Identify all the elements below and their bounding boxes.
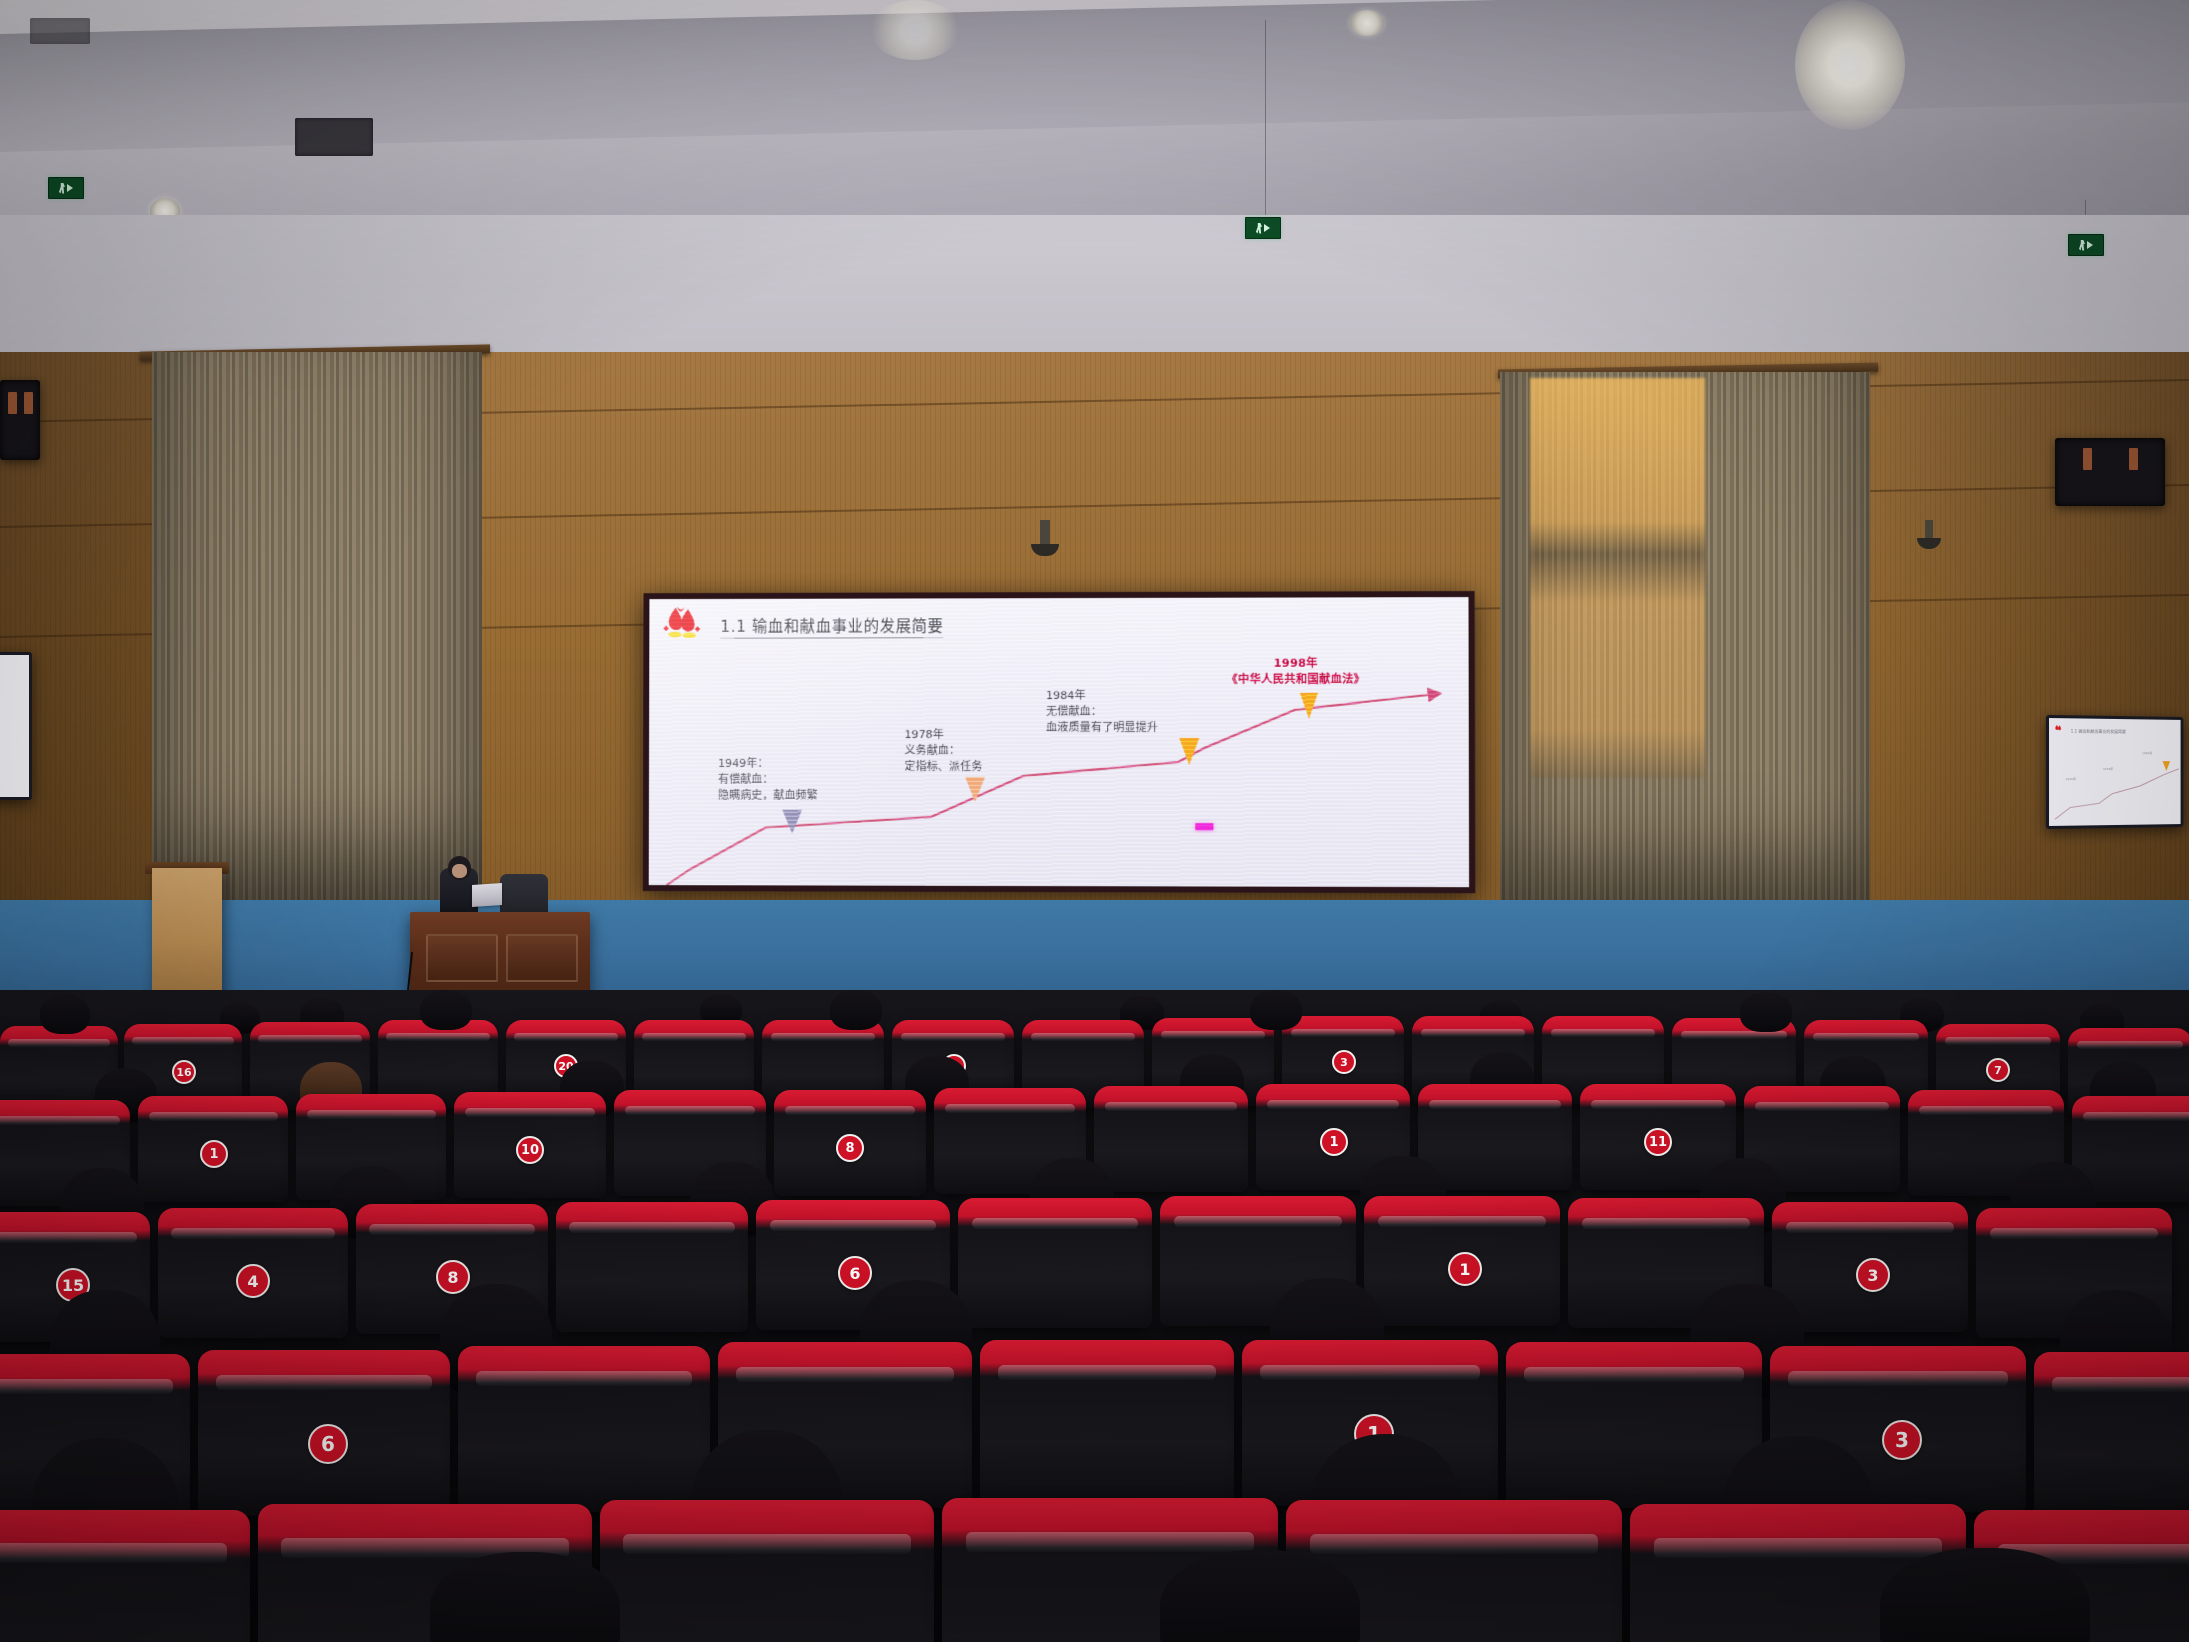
- peach-triangle-marker: [965, 777, 985, 802]
- ceiling-camera: [1040, 520, 1050, 546]
- milestone-year: 1949年：: [718, 756, 818, 772]
- audience-head: [430, 1552, 620, 1642]
- right-side-monitor[interactable]: 1.1 输血和献血事业的发展简要 1949年 1978年 1984年: [2046, 715, 2183, 829]
- milestone-line: 义务献血：: [904, 743, 982, 759]
- theater-seat[interactable]: [1094, 1086, 1248, 1192]
- audience-head: [1160, 1550, 1360, 1642]
- seat-number-badge: 3: [1882, 1420, 1922, 1460]
- desk-panel: [426, 934, 498, 982]
- ceiling-spotlight: [1795, 0, 1905, 130]
- slide-surface: 1.1 输血和献血事业的发展简要 1949年： 有偿献血： 隐瞒病史，献血频繁: [649, 597, 1469, 887]
- theater-seat[interactable]: 4: [158, 1208, 348, 1338]
- orange-triangle-marker: [1300, 693, 1318, 719]
- theater-seat[interactable]: 1: [138, 1096, 288, 1202]
- emergency-exit-sign: [1245, 217, 1281, 239]
- speaker-driver-icon: [8, 392, 17, 414]
- seat-number-badge: 4: [236, 1264, 270, 1298]
- speaker-driver-icon: [24, 392, 33, 414]
- slide-title: 1.1 输血和献血事业的发展简要: [720, 614, 943, 638]
- magenta-highlight-chip: [1195, 823, 1213, 830]
- main-led-screen[interactable]: 1.1 输血和献血事业的发展简要 1949年： 有偿献血： 隐瞒病史，献血频繁: [643, 591, 1475, 893]
- right-monitor-screen: 1.1 输血和献血事业的发展简要 1949年 1978年 1984年: [2049, 718, 2181, 826]
- milestone-label-1984: 1984年 无偿献血： 血液质量有了明显提升: [1046, 688, 1158, 736]
- monitor-mini-label: 1978年: [2103, 767, 2113, 771]
- theater-seat[interactable]: [1418, 1084, 1572, 1190]
- seat-number-badge: 1: [200, 1140, 228, 1168]
- running-man-icon: [59, 183, 65, 194]
- theater-seat[interactable]: [600, 1500, 934, 1642]
- audience-head: [1250, 990, 1302, 1030]
- monitor-mini-label: 1984年: [2142, 751, 2152, 755]
- wooden-podium: [152, 868, 222, 998]
- presenter-laptop: [472, 883, 502, 907]
- theater-seat[interactable]: [2034, 1352, 2189, 1518]
- audience-seating-area: 16 20 1 3 7: [0, 990, 2189, 1642]
- milestone-line: 血液质量有了明显提升: [1046, 720, 1158, 736]
- theater-seat[interactable]: 1: [1364, 1196, 1560, 1326]
- milestone-label-1978: 1978年 义务献血： 定指标、派任务: [904, 727, 982, 775]
- speaker-driver-icon: [2083, 448, 2092, 470]
- seat-number-badge: 3: [1332, 1050, 1356, 1074]
- audience-head: [830, 990, 882, 1030]
- desk-panel: [506, 934, 578, 982]
- audience-head: [420, 990, 472, 1030]
- seat-number-badge: 6: [838, 1256, 872, 1290]
- presenter-desk: [410, 912, 590, 998]
- exit-arrow-icon: [2087, 241, 2093, 249]
- audience-head: [1880, 1548, 2090, 1642]
- seat-number-badge: 7: [1986, 1058, 2010, 1082]
- curtain-warm-light-wash: [1530, 378, 1705, 778]
- theater-seat[interactable]: 10: [454, 1092, 606, 1198]
- emergency-exit-sign: [2068, 234, 2104, 256]
- wall-speaker: [2055, 438, 2165, 506]
- theater-seat[interactable]: [1506, 1342, 1762, 1508]
- milestone-line: 隐瞒病史，献血频繁: [718, 788, 818, 804]
- theater-seat[interactable]: [0, 1510, 250, 1642]
- milestone-year: 1978年: [904, 727, 982, 743]
- audience-head: [1740, 992, 1792, 1032]
- theater-seat[interactable]: 3: [1772, 1202, 1968, 1332]
- auditorium-photo: 1.1 输血和献血事业的发展简要 1949年： 有偿献血： 隐瞒病史，献血频繁: [0, 0, 2189, 1642]
- milestone-line: 《中华人民共和国献血法》: [1226, 672, 1365, 688]
- exit-arrow-icon: [1264, 224, 1270, 232]
- running-man-icon: [1256, 223, 1262, 234]
- left-monitor-screen: 1998年: [0, 655, 29, 797]
- seat-number-badge: 1: [1320, 1128, 1348, 1156]
- milestone-label-1998: 1998年 《中华人民共和国献血法》: [1226, 656, 1365, 688]
- milestone-line: 有偿献血：: [718, 772, 818, 788]
- timeline-line-chart: [649, 597, 1469, 887]
- milestone-line: 无偿献血：: [1046, 704, 1158, 720]
- milestone-line: 定指标、派任务: [904, 759, 982, 775]
- milestone-year: 1984年: [1046, 688, 1158, 704]
- exit-arrow-icon: [67, 184, 73, 192]
- seat-number-badge: 11: [1644, 1128, 1672, 1156]
- speaker-driver-icon: [2129, 448, 2138, 470]
- seat-number-badge: 16: [172, 1060, 196, 1084]
- theater-seat[interactable]: [958, 1198, 1152, 1328]
- monitor-mini-label: 1949年: [2065, 777, 2076, 781]
- presenter-face: [452, 864, 467, 878]
- ceiling-vent: [295, 118, 373, 156]
- seat-number-badge: 1: [1448, 1252, 1482, 1286]
- ceiling-vent: [30, 18, 90, 44]
- left-side-monitor[interactable]: 1998年: [0, 652, 32, 800]
- monitor-timeline-line: [2049, 718, 2181, 826]
- theater-seat[interactable]: [980, 1340, 1234, 1506]
- wall-speaker: [0, 380, 40, 460]
- seat-number-badge: 10: [516, 1136, 544, 1164]
- theater-seat[interactable]: 6: [198, 1350, 450, 1516]
- seat-number-badge: 8: [436, 1260, 470, 1294]
- theater-seat[interactable]: 8: [774, 1090, 926, 1196]
- milestone-year: 1998年: [1226, 656, 1365, 672]
- seat-number-badge: 6: [308, 1424, 348, 1464]
- ceiling-spotlight: [870, 0, 960, 60]
- theater-seat[interactable]: [458, 1346, 710, 1512]
- milestone-label-1949: 1949年： 有偿献血： 隐瞒病史，献血频繁: [718, 756, 818, 804]
- stage-curtain-left: [152, 352, 482, 922]
- gray-violet-triangle-marker: [782, 810, 802, 834]
- seat-number-badge: 8: [836, 1134, 864, 1162]
- audience-head: [40, 994, 90, 1034]
- theater-seat[interactable]: [556, 1202, 748, 1332]
- running-man-icon: [2079, 240, 2085, 251]
- ceiling-downlight: [1350, 10, 1384, 36]
- seat-number-badge: 3: [1856, 1258, 1890, 1292]
- emergency-exit-sign: [48, 177, 84, 199]
- red-blood-drop-mascot-logo: [663, 605, 704, 641]
- ceiling-camera: [1925, 520, 1933, 540]
- orange-triangle-marker: [1179, 738, 1199, 765]
- orange-triangle-marker: [2163, 762, 2171, 772]
